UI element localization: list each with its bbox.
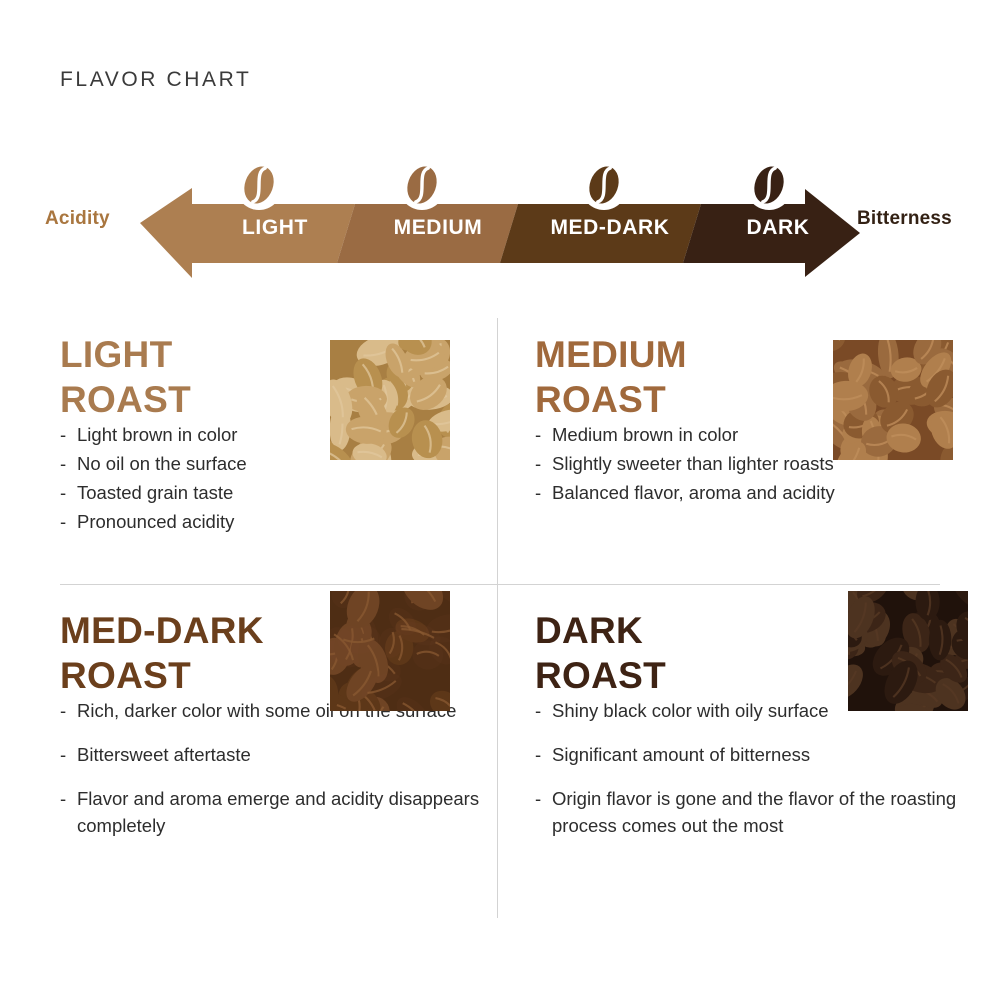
bullet-item: -Toasted grain taste — [60, 480, 480, 507]
quadrant-bullet-list: -Shiny black color with oily surface-Sig… — [535, 698, 965, 839]
scale-segment-label-light: LIGHT — [200, 216, 350, 240]
bullet-text: No oil on the surface — [77, 453, 247, 474]
bullet-text: Toasted grain taste — [77, 482, 233, 503]
bullet-marker: - — [535, 786, 541, 813]
coffee-bean-icon — [399, 162, 445, 212]
bullet-text: Pronounced acidity — [77, 511, 234, 532]
med-dark-roast-beans-photo — [330, 591, 450, 711]
bullet-item: -Origin flavor is gone and the flavor of… — [535, 786, 965, 840]
bullet-item: -Pronounced acidity — [60, 509, 480, 536]
medium-roast-beans-photo — [833, 340, 953, 460]
bullet-item: -Flavor and aroma emerge and acidity dis… — [60, 786, 480, 840]
scale-segment-label-med-dark: MED-DARK — [520, 216, 700, 240]
bullet-text: Flavor and aroma emerge and acidity disa… — [77, 788, 479, 836]
roast-scale: Acidity Bitterness LIGHT MEDIUM MED-DARK… — [0, 160, 1001, 280]
coffee-bean-icon — [581, 162, 627, 212]
bullet-text: Shiny black color with oily surface — [552, 700, 829, 721]
page-title: FLAVOR CHART — [60, 68, 251, 92]
bullet-marker: - — [60, 422, 66, 449]
bullet-text: Significant amount of bitterness — [552, 744, 810, 765]
light-roast-beans-photo — [330, 340, 450, 460]
scale-label-bitterness: Bitterness — [857, 208, 952, 230]
bullet-marker: - — [535, 451, 541, 478]
bullet-text: Origin flavor is gone and the flavor of … — [552, 788, 956, 836]
quadrant-bullet-list: -Rich, darker color with some oil on the… — [60, 698, 480, 839]
bullet-item: -Bittersweet aftertaste — [60, 742, 480, 769]
bullet-text: Balanced flavor, aroma and acidity — [552, 482, 835, 503]
bullet-marker: - — [535, 480, 541, 507]
bullet-marker: - — [535, 742, 541, 769]
bullet-marker: - — [60, 509, 66, 536]
bullet-marker: - — [60, 742, 66, 769]
bullet-marker: - — [535, 698, 541, 725]
scale-label-acidity: Acidity — [45, 208, 110, 230]
grid-divider-horizontal — [60, 584, 940, 585]
scale-segment-label-medium: MEDIUM — [358, 216, 518, 240]
bullet-text: Bittersweet aftertaste — [77, 744, 251, 765]
bullet-marker: - — [60, 786, 66, 813]
scale-segment-label-dark: DARK — [703, 216, 853, 240]
dark-roast-beans-photo — [848, 591, 968, 711]
bullet-item: -Significant amount of bitterness — [535, 742, 965, 769]
bullet-text: Slightly sweeter than lighter roasts — [552, 453, 834, 474]
bullet-marker: - — [60, 451, 66, 478]
coffee-bean-icon — [746, 162, 792, 212]
bullet-item: -Balanced flavor, aroma and acidity — [535, 480, 965, 507]
bullet-marker: - — [535, 422, 541, 449]
bullet-text: Light brown in color — [77, 424, 237, 445]
roast-scale-band: LIGHT MEDIUM MED-DARK DARK — [140, 160, 860, 280]
bullet-marker: - — [60, 698, 66, 725]
bullet-text: Medium brown in color — [552, 424, 738, 445]
bullet-marker: - — [60, 480, 66, 507]
coffee-bean-icon — [236, 162, 282, 212]
grid-divider-vertical — [497, 318, 498, 918]
